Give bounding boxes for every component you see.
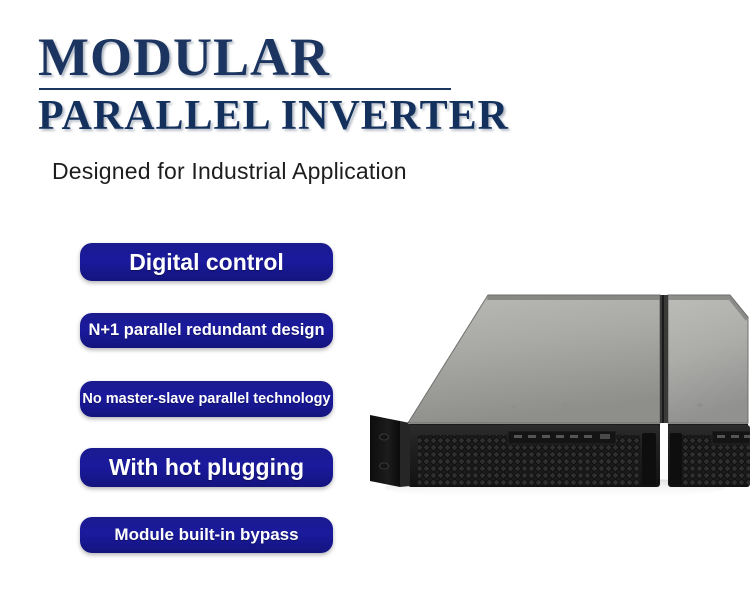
module2-top-panel bbox=[668, 295, 748, 423]
top-screw bbox=[697, 403, 703, 407]
feature-pill-label: No master-slave parallel technology bbox=[82, 391, 330, 407]
feature-pill-redundant-design: N+1 parallel redundant design bbox=[80, 313, 333, 348]
module1-top-panel bbox=[408, 295, 660, 423]
module-seam-line bbox=[662, 295, 664, 423]
top-screw bbox=[562, 403, 568, 407]
feature-pill-label: Module built-in bypass bbox=[114, 525, 298, 545]
feature-pill-builtin-bypass: Module built-in bypass bbox=[80, 517, 333, 553]
module1-handle-recess bbox=[642, 433, 656, 485]
module2-indicator-leds bbox=[717, 435, 750, 438]
product-photo-inverter-modules bbox=[360, 255, 750, 505]
headline-block: MODULAR PARALLEL INVERTER bbox=[38, 28, 468, 140]
feature-pill-digital-control: Digital control bbox=[80, 243, 333, 281]
title-divider-rule bbox=[39, 88, 451, 90]
feature-pill-hot-plugging: With hot plugging bbox=[80, 448, 333, 487]
rack-mount-ear bbox=[370, 415, 400, 487]
top-screw bbox=[511, 405, 517, 409]
feature-pill-label: Digital control bbox=[129, 249, 284, 276]
page-title-line2: PARALLEL INVERTER bbox=[38, 92, 468, 140]
feature-pill-label: With hot plugging bbox=[109, 454, 304, 481]
rack-ear-bend bbox=[400, 421, 410, 487]
feature-pill-label: N+1 parallel redundant design bbox=[88, 321, 324, 340]
module2-handle-recess bbox=[670, 433, 682, 485]
feature-pill-no-master-slave: No master-slave parallel technology bbox=[80, 381, 333, 417]
page-title-line1: MODULAR bbox=[38, 28, 468, 86]
product-marketing-poster: MODULAR PARALLEL INVERTER Designed for I… bbox=[0, 0, 750, 596]
module1-top-rear-lip bbox=[487, 295, 660, 300]
tagline-text: Designed for Industrial Application bbox=[52, 158, 407, 185]
